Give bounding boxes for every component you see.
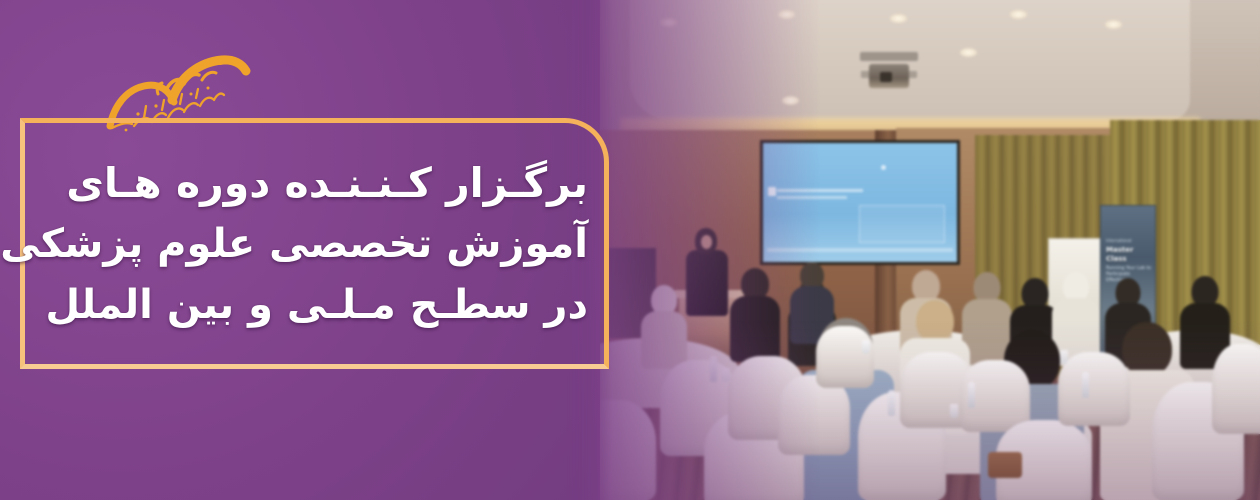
- downlight-icon: [1105, 20, 1122, 29]
- water-bottle: [710, 356, 717, 382]
- downlight-icon: [1010, 10, 1027, 19]
- drinking-glass: [862, 340, 870, 354]
- headline-line-2: آموزش تخصصی علوم پزشکی: [30, 214, 588, 275]
- downlight-icon: [960, 48, 977, 57]
- attendee: [640, 285, 688, 365]
- female-presenter: [686, 250, 728, 316]
- drinking-glass: [1060, 350, 1068, 364]
- drinking-glass: [950, 404, 958, 418]
- drinking-glass: [722, 368, 730, 382]
- banquet-chair: [600, 400, 656, 500]
- downlight-icon: [782, 96, 799, 105]
- presenter-face: [701, 235, 712, 249]
- rollup-pre-text: International: [1106, 238, 1151, 243]
- projection-screen: [760, 140, 960, 265]
- downlight-icon: [660, 18, 677, 27]
- downlight-icon: [890, 14, 907, 23]
- banquet-chair: [1058, 352, 1130, 426]
- headline-line-3: در سطـح مـلـی و بین الملل: [30, 275, 588, 336]
- rollup-title: Master Class: [1106, 246, 1151, 264]
- water-bottle: [1082, 372, 1089, 398]
- headline-block: برگـزار کـنـنـده دوره هـای آموزش تخصصی ع…: [24, 126, 602, 362]
- water-bottle: [968, 382, 975, 408]
- water-bottle: [888, 390, 895, 416]
- banquet-chair: [1212, 344, 1260, 434]
- attendee: [730, 268, 780, 360]
- promotional-banner: International Master Class Running Your …: [0, 0, 1260, 500]
- handbag: [988, 452, 1022, 478]
- headline-line-1: برگـزار کـنـنـده دوره هـای: [30, 152, 588, 214]
- ceiling-projector: [860, 52, 918, 96]
- downlight-icon: [778, 10, 795, 19]
- banquet-chair: [816, 326, 874, 388]
